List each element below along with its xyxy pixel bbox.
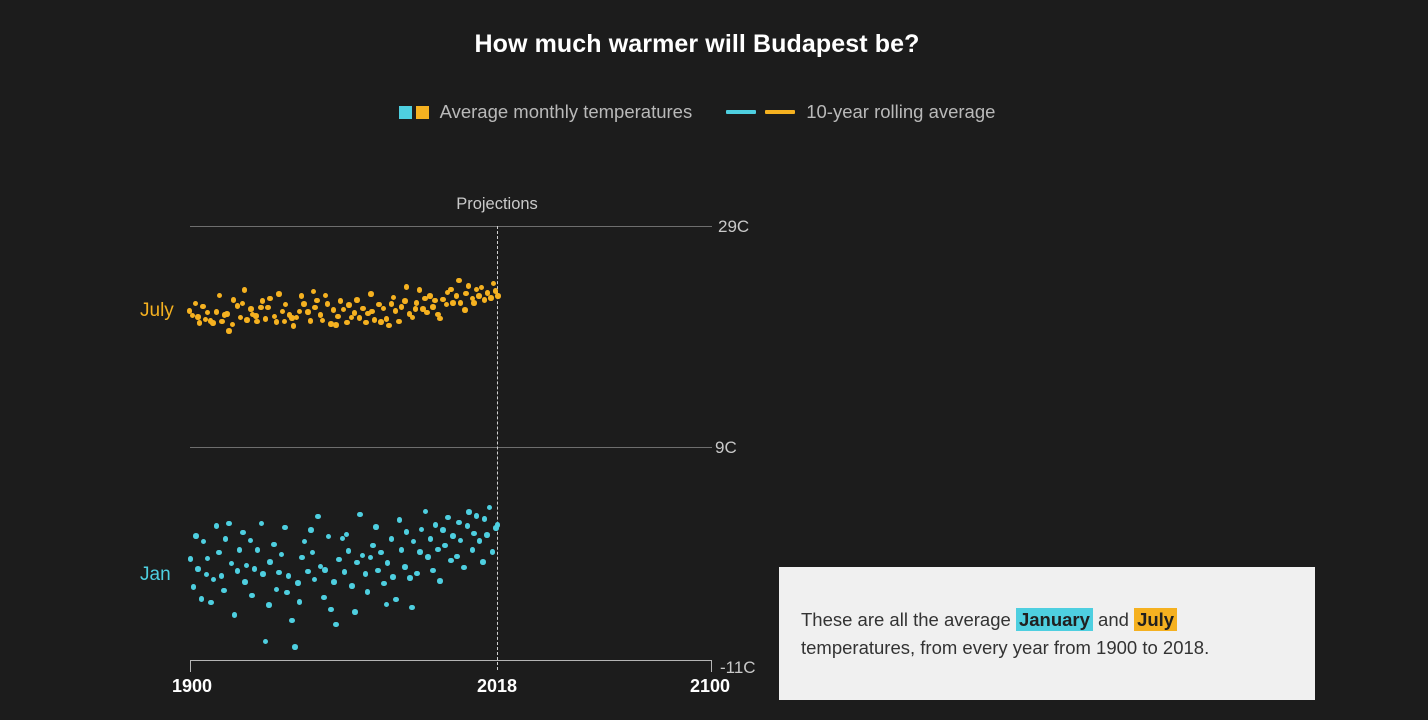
scatter-point bbox=[342, 569, 348, 575]
scatter-point bbox=[458, 538, 464, 544]
projection-divider-line bbox=[497, 226, 498, 670]
scatter-point bbox=[419, 527, 425, 533]
scatter-point bbox=[399, 547, 405, 553]
scatter-point bbox=[411, 539, 417, 545]
scatter-point bbox=[208, 600, 214, 606]
scatter-point bbox=[302, 539, 308, 545]
scatter-point bbox=[365, 589, 371, 595]
scatter-point bbox=[301, 301, 307, 307]
scatter-point bbox=[393, 308, 399, 314]
scatter-point bbox=[354, 297, 360, 303]
scatter-point bbox=[420, 306, 426, 312]
legend-label-rolling-average: 10-year rolling average bbox=[806, 101, 995, 123]
scatter-point bbox=[378, 550, 384, 556]
scatter-point bbox=[328, 607, 334, 613]
scatter-point bbox=[272, 314, 278, 320]
scatter-point bbox=[341, 307, 347, 313]
scatter-point bbox=[328, 321, 334, 327]
scatter-point bbox=[336, 557, 342, 563]
scatter-point bbox=[393, 597, 399, 603]
scatter-point bbox=[294, 315, 300, 321]
scatter-point bbox=[435, 547, 441, 553]
scatter-point bbox=[389, 536, 395, 542]
scatter-point bbox=[454, 293, 460, 299]
chart-canvas: How much warmer will Budapest be? Averag… bbox=[0, 0, 1428, 720]
scatter-point bbox=[289, 618, 295, 624]
scatter-point bbox=[248, 538, 254, 544]
annotation-suffix: temperatures, from every year from 1900 … bbox=[801, 637, 1209, 658]
scatter-point bbox=[471, 300, 477, 306]
scatter-point bbox=[205, 556, 211, 562]
scatter-point bbox=[297, 309, 303, 315]
scatter-point bbox=[199, 596, 205, 602]
scatter-point bbox=[204, 572, 210, 578]
scatter-point bbox=[297, 599, 303, 605]
scatter-point bbox=[378, 319, 384, 325]
scatter-point bbox=[314, 298, 320, 304]
scatter-point bbox=[193, 533, 199, 539]
scatter-point bbox=[289, 315, 295, 321]
legend-swatch-july-icon bbox=[416, 106, 429, 119]
scatter-point bbox=[344, 532, 350, 538]
scatter-point bbox=[488, 295, 494, 301]
scatter-point bbox=[430, 304, 436, 310]
scatter-point bbox=[286, 573, 292, 579]
scatter-point bbox=[265, 305, 271, 311]
scatter-point bbox=[226, 328, 232, 334]
scatter-point bbox=[423, 509, 429, 515]
scatter-point bbox=[360, 306, 366, 312]
scatter-point bbox=[404, 284, 410, 290]
gridline-9c bbox=[190, 447, 712, 448]
xtick-label-1900: 1900 bbox=[172, 676, 212, 697]
scatter-point bbox=[208, 318, 214, 324]
scatter-point bbox=[292, 644, 298, 650]
scatter-point bbox=[226, 521, 232, 527]
scatter-point bbox=[365, 311, 371, 317]
scatter-point bbox=[287, 312, 293, 318]
scatter-point bbox=[402, 298, 408, 304]
scatter-point bbox=[396, 319, 402, 325]
scatter-point bbox=[402, 564, 408, 570]
scatter-point bbox=[242, 287, 248, 293]
scatter-point bbox=[407, 311, 413, 317]
scatter-point bbox=[276, 570, 282, 576]
scatter-point bbox=[308, 527, 314, 533]
scatter-point bbox=[352, 310, 358, 316]
scatter-point bbox=[470, 296, 476, 302]
legend-item-scatter: Average monthly temperatures bbox=[399, 101, 693, 123]
scatter-point bbox=[326, 534, 332, 540]
scatter-point bbox=[357, 315, 363, 321]
scatter-point bbox=[437, 578, 443, 584]
scatter-point bbox=[259, 521, 265, 527]
scatter-point bbox=[477, 538, 483, 544]
scatter-point bbox=[282, 525, 288, 531]
scatter-point bbox=[375, 568, 381, 574]
scatter-point bbox=[321, 595, 327, 601]
scatter-point bbox=[217, 293, 223, 299]
scatter-point bbox=[485, 290, 491, 296]
scatter-point bbox=[312, 305, 318, 311]
scatter-point bbox=[493, 525, 499, 531]
scatter-point bbox=[490, 549, 496, 555]
scatter-point bbox=[437, 316, 443, 322]
scatter-point bbox=[263, 316, 269, 322]
annotation-highlight-july: July bbox=[1134, 608, 1177, 631]
scatter-point bbox=[284, 590, 290, 596]
scatter-point bbox=[271, 542, 277, 548]
scatter-point bbox=[318, 564, 324, 570]
scatter-point bbox=[280, 309, 286, 315]
scatter-point bbox=[340, 536, 346, 542]
scatter-point bbox=[333, 322, 339, 328]
scatter-point bbox=[210, 320, 216, 326]
scatter-point bbox=[244, 563, 250, 569]
scatter-point bbox=[305, 309, 311, 315]
scatter-point bbox=[450, 533, 456, 539]
scatter-point bbox=[224, 311, 230, 317]
scatter-point bbox=[432, 298, 438, 304]
scatter-point bbox=[404, 529, 410, 535]
scatter-point bbox=[354, 560, 360, 566]
scatter-point bbox=[310, 550, 316, 556]
scatter-point bbox=[231, 297, 237, 303]
scatter-point bbox=[283, 302, 289, 308]
scatter-point bbox=[320, 318, 326, 324]
scatter-point bbox=[219, 319, 225, 325]
scatter-point bbox=[267, 296, 273, 302]
scatter-point bbox=[484, 532, 490, 538]
scatter-point bbox=[410, 315, 416, 321]
scatter-point bbox=[424, 310, 430, 316]
scatter-point bbox=[203, 317, 209, 323]
legend-item-rolling-average: 10-year rolling average bbox=[726, 101, 995, 123]
scatter-point bbox=[223, 536, 229, 542]
scatter-point bbox=[248, 306, 254, 312]
scatter-point bbox=[373, 524, 379, 530]
scatter-point bbox=[458, 300, 464, 306]
scatter-point bbox=[229, 561, 235, 567]
scatter-point bbox=[381, 306, 387, 312]
annotation-prefix: These are all the average bbox=[801, 609, 1016, 630]
scatter-point bbox=[191, 584, 197, 590]
scatter-point bbox=[466, 509, 472, 515]
scatter-point bbox=[435, 312, 441, 318]
scatter-point bbox=[389, 301, 395, 307]
scatter-point bbox=[200, 304, 206, 310]
scatter-point bbox=[299, 555, 305, 561]
scatter-point bbox=[445, 515, 451, 521]
scatter-point bbox=[274, 319, 280, 325]
legend-line-swatches bbox=[726, 110, 795, 114]
scatter-point bbox=[482, 297, 488, 303]
projections-label: Projections bbox=[456, 195, 538, 214]
scatter-point bbox=[263, 639, 269, 645]
scatter-point bbox=[195, 566, 201, 572]
chart-legend: Average monthly temperatures 10-year rol… bbox=[0, 101, 1394, 123]
ytick-label-9c: 9C bbox=[715, 438, 737, 458]
scatter-point bbox=[368, 555, 374, 561]
scatter-point bbox=[335, 314, 341, 320]
scatter-point bbox=[331, 579, 337, 585]
scatter-point bbox=[390, 574, 396, 580]
scatter-point bbox=[386, 323, 392, 329]
scatter-point bbox=[344, 320, 350, 326]
scatter-point bbox=[414, 571, 420, 577]
scatter-point bbox=[482, 516, 488, 522]
scatter-point bbox=[444, 302, 450, 308]
ytick-label-minus11c: -11C bbox=[720, 658, 756, 678]
scatter-point bbox=[235, 303, 241, 309]
scatter-point bbox=[295, 580, 301, 586]
scatter-point bbox=[479, 285, 485, 291]
scatter-point bbox=[385, 560, 391, 566]
series-label-july: July bbox=[140, 300, 174, 322]
scatter-point bbox=[214, 309, 220, 315]
scatter-point bbox=[491, 281, 497, 287]
scatter-point bbox=[230, 322, 236, 328]
scatter-point bbox=[476, 293, 482, 299]
scatter-point bbox=[470, 547, 476, 553]
legend-swatch-january-icon bbox=[399, 106, 412, 119]
scatter-point bbox=[413, 306, 419, 312]
gridline-29c bbox=[190, 226, 712, 227]
scatter-point bbox=[322, 567, 328, 573]
scatter-point bbox=[369, 309, 375, 315]
scatter-point bbox=[333, 622, 339, 628]
scatter-point bbox=[442, 543, 448, 549]
scatter-point bbox=[363, 571, 369, 577]
scatter-point bbox=[311, 289, 317, 295]
scatter-point bbox=[258, 305, 264, 311]
scatter-point bbox=[456, 278, 462, 284]
scatter-point bbox=[448, 287, 454, 293]
scatter-point bbox=[279, 552, 285, 558]
xtick-label-2018: 2018 bbox=[477, 676, 517, 697]
scatter-point bbox=[214, 523, 220, 529]
scatter-point bbox=[266, 602, 272, 608]
scatter-point bbox=[448, 558, 454, 564]
scatter-point bbox=[372, 317, 378, 323]
scatter-point bbox=[384, 602, 390, 608]
scatter-point bbox=[407, 575, 413, 581]
scatter-point bbox=[195, 314, 201, 320]
scatter-point bbox=[466, 283, 472, 289]
scatter-point bbox=[255, 547, 261, 553]
scatter-point bbox=[197, 320, 203, 326]
scatter-point bbox=[250, 312, 256, 318]
scatter-point bbox=[422, 296, 428, 302]
scatter-point bbox=[425, 554, 431, 560]
scatter-point bbox=[493, 288, 499, 294]
scatter-point bbox=[349, 315, 355, 321]
legend-line-july-icon bbox=[765, 110, 795, 114]
scatter-point bbox=[456, 520, 462, 526]
scatter-point bbox=[193, 301, 199, 307]
scatter-point bbox=[360, 553, 366, 559]
scatter-point bbox=[349, 583, 355, 589]
scatter-point bbox=[440, 297, 446, 303]
chart-title: How much warmer will Budapest be? bbox=[0, 30, 1394, 59]
scatter-point bbox=[417, 287, 423, 293]
scatter-point bbox=[282, 319, 288, 325]
scatter-point bbox=[238, 315, 244, 321]
scatter-point bbox=[495, 293, 501, 299]
annotation-middle: and bbox=[1093, 609, 1134, 630]
scatter-point bbox=[267, 559, 273, 565]
scatter-point bbox=[201, 539, 207, 545]
scatter-point bbox=[232, 612, 238, 618]
scatter-point bbox=[211, 577, 217, 583]
scatter-point bbox=[260, 571, 266, 577]
scatter-point bbox=[433, 522, 439, 528]
scatter-point bbox=[346, 548, 352, 554]
scatter-point bbox=[409, 605, 415, 611]
scatter-point bbox=[461, 565, 467, 571]
scatter-point bbox=[440, 527, 446, 533]
scatter-point bbox=[325, 301, 331, 307]
scatter-point bbox=[462, 307, 468, 313]
scatter-point bbox=[305, 569, 311, 575]
scatter-point bbox=[249, 593, 255, 599]
xtick-label-2100: 2100 bbox=[690, 676, 730, 697]
scatter-point bbox=[240, 530, 246, 536]
scatter-point bbox=[463, 291, 469, 297]
scatter-point bbox=[430, 568, 436, 574]
scatter-point bbox=[221, 588, 227, 594]
scatter-point bbox=[291, 323, 297, 329]
scatter-point bbox=[454, 554, 460, 560]
scatter-point bbox=[315, 514, 321, 520]
scatter-point bbox=[205, 310, 211, 316]
scatter-point bbox=[242, 579, 248, 585]
series-label-jan: Jan bbox=[140, 564, 171, 586]
scatter-point bbox=[235, 568, 241, 574]
scatter-point bbox=[399, 304, 405, 310]
scatter-point bbox=[254, 319, 260, 325]
scatter-point bbox=[237, 547, 243, 553]
scatter-point bbox=[428, 536, 434, 542]
scatter-point bbox=[260, 298, 266, 304]
scatter-point bbox=[368, 291, 374, 297]
scatter-point bbox=[474, 513, 480, 519]
scatter-point bbox=[480, 559, 486, 565]
scatter-point bbox=[465, 523, 471, 529]
scatter-point bbox=[187, 308, 193, 314]
scatter-point bbox=[370, 543, 376, 549]
scatter-point bbox=[445, 290, 451, 296]
scatter-point bbox=[190, 313, 196, 319]
scatter-point bbox=[471, 531, 477, 537]
legend-line-january-icon bbox=[726, 110, 756, 114]
scatter-point bbox=[222, 312, 228, 318]
scatter-point bbox=[244, 317, 250, 323]
scatter-point bbox=[376, 302, 382, 308]
scatter-point bbox=[312, 577, 318, 583]
legend-label-scatter: Average monthly temperatures bbox=[440, 101, 693, 123]
scatter-point bbox=[276, 291, 282, 297]
scatter-point bbox=[384, 316, 390, 322]
legend-square-swatches bbox=[399, 106, 429, 119]
scatter-point bbox=[352, 609, 358, 615]
scatter-point bbox=[318, 312, 324, 318]
scatter-point bbox=[331, 307, 337, 313]
scatter-point bbox=[427, 293, 433, 299]
scatter-point bbox=[381, 581, 387, 587]
scatter-point bbox=[253, 313, 259, 319]
scatter-point bbox=[274, 587, 280, 593]
scatter-point bbox=[397, 517, 403, 523]
scatter-point bbox=[299, 293, 305, 299]
scatter-point bbox=[391, 295, 397, 301]
scatter-point bbox=[252, 566, 258, 572]
ytick-label-29c: 29C bbox=[718, 217, 749, 237]
scatter-point bbox=[219, 573, 225, 579]
scatter-point bbox=[417, 549, 423, 555]
scatter-point bbox=[495, 522, 501, 528]
annotation-text: These are all the average January and Ju… bbox=[801, 606, 1293, 662]
x-axis-line bbox=[190, 660, 712, 672]
scatter-point bbox=[414, 300, 420, 306]
scatter-point bbox=[357, 512, 363, 518]
scatter-point bbox=[240, 301, 246, 307]
scatter-point bbox=[487, 505, 493, 511]
annotation-callout: These are all the average January and Ju… bbox=[779, 567, 1315, 700]
scatter-point bbox=[363, 320, 369, 326]
scatter-point bbox=[338, 298, 344, 304]
scatter-point bbox=[346, 302, 352, 308]
scatter-point bbox=[474, 287, 480, 293]
scatter-point bbox=[216, 550, 222, 556]
scatter-point bbox=[308, 318, 314, 324]
scatter-point bbox=[323, 293, 329, 299]
scatter-point bbox=[450, 300, 456, 306]
annotation-highlight-january: January bbox=[1016, 608, 1093, 631]
scatter-point bbox=[188, 556, 194, 562]
